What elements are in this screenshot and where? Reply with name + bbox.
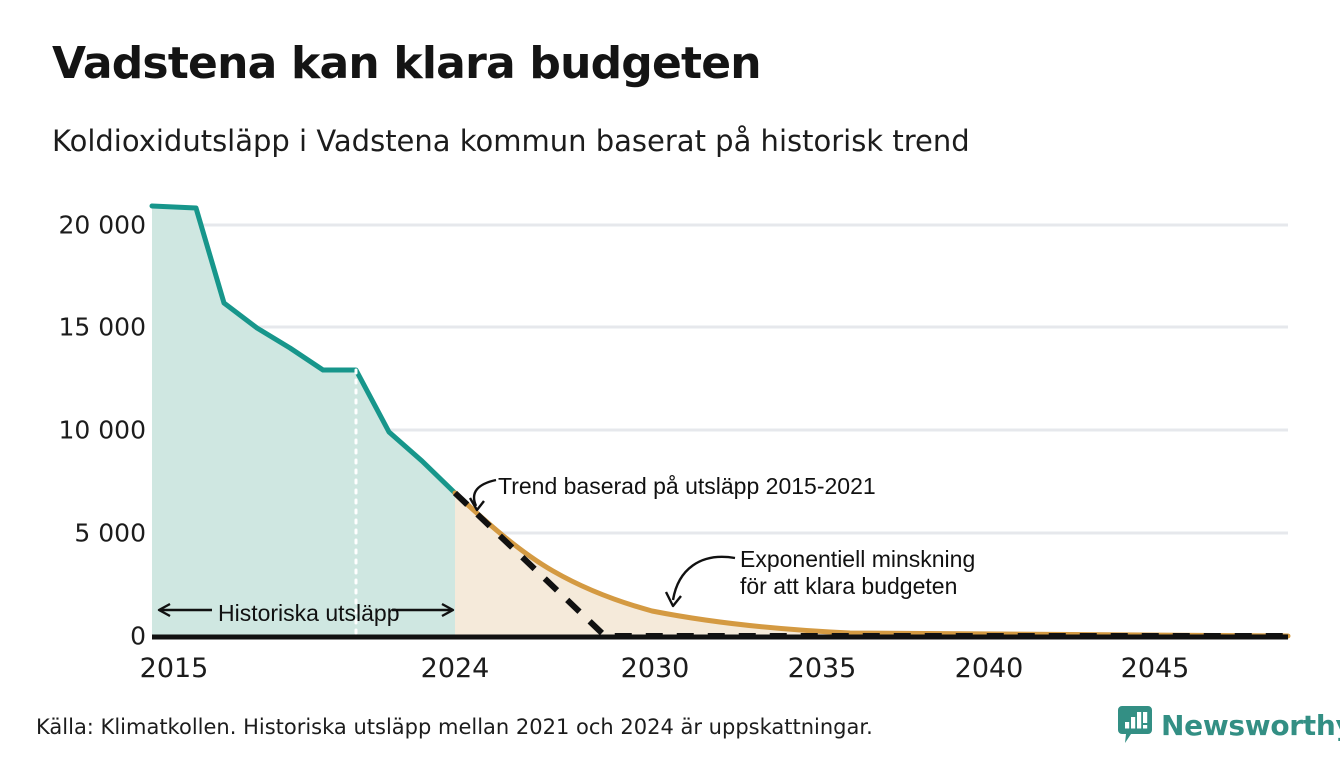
exponential-annotation-leader: [666, 557, 735, 606]
historical-span-label: Historiska utsläpp: [218, 600, 400, 627]
trend-annotation-label: Trend baserad på utsläpp 2015-2021: [498, 473, 876, 500]
exponential-annotation-line1: Exponentiell minskning: [740, 546, 975, 573]
y-tick-20000: 20 000: [26, 211, 146, 240]
x-tick-2045: 2045: [1121, 653, 1190, 684]
x-tick-2040: 2040: [955, 653, 1024, 684]
y-tick-0: 0: [26, 622, 146, 651]
x-tick-2030: 2030: [621, 653, 690, 684]
newsworthy-logo-text: Newsworthy: [1161, 709, 1340, 742]
exponential-annotation-line2: för att klara budgeten: [740, 573, 975, 600]
exponential-annotation-label: Exponentiell minskning för att klara bud…: [740, 546, 975, 600]
historical-area: [152, 206, 455, 636]
x-tick-2024: 2024: [421, 653, 490, 684]
y-tick-10000: 10 000: [26, 416, 146, 445]
trend-annotation-leader: [470, 480, 496, 510]
y-tick-15000: 15 000: [26, 313, 146, 342]
y-tick-5000: 5 000: [26, 519, 146, 548]
x-tick-2015: 2015: [140, 653, 209, 684]
chart-root: Vadstena kan klara budgeten Koldioxiduts…: [0, 0, 1340, 780]
x-tick-2035: 2035: [788, 653, 857, 684]
source-note: Källa: Klimatkollen. Historiska utsläpp …: [36, 715, 873, 739]
newsworthy-logo[interactable]: Newsworthy: [1118, 706, 1340, 744]
newsworthy-bar-chart-bubble-icon: [1118, 706, 1152, 744]
